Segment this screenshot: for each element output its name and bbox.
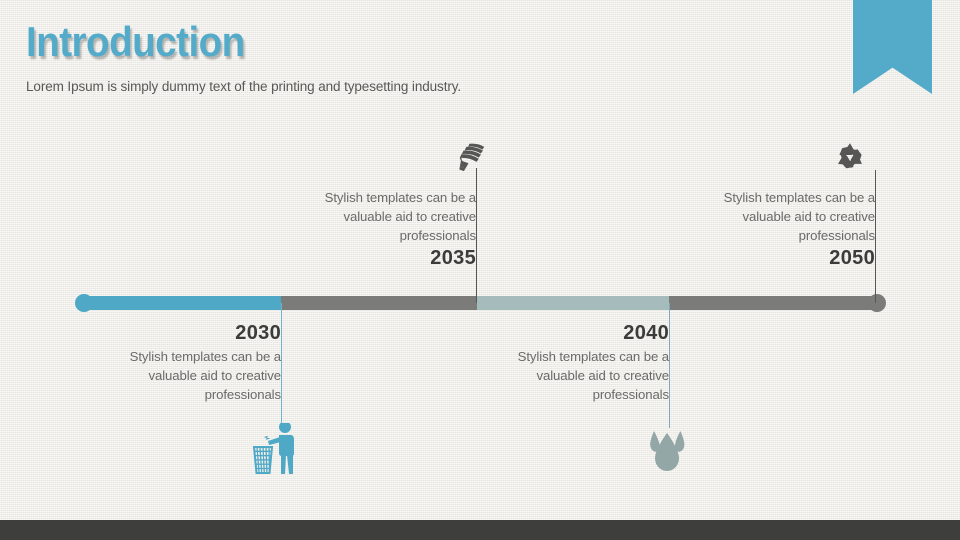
energy-saving-bulb-icon	[452, 138, 486, 174]
milestone-2050: Stylish templates can be a valuable aid …	[675, 188, 887, 272]
milestone-description-2030: Stylish templates can be a valuable aid …	[81, 347, 281, 404]
timeline: 2030Stylish templates can be a valuable …	[0, 0, 960, 540]
milestone-2040: 2040Stylish templates can be a valuable …	[469, 320, 681, 404]
end-cap	[868, 294, 886, 312]
segment-dark-gray	[281, 296, 477, 310]
segment-blue	[79, 296, 281, 310]
icon-container-2035	[452, 138, 486, 179]
milestone-2030: 2030Stylish templates can be a valuable …	[81, 320, 293, 404]
water-drops-icon	[648, 428, 688, 476]
milestone-2035: Stylish templates can be a valuable aid …	[276, 188, 488, 272]
start-cap	[75, 294, 93, 312]
milestone-description-2050: Stylish templates can be a valuable aid …	[675, 188, 875, 245]
slide-canvas: Introduction Lorem Ipsum is simply dummy…	[0, 0, 960, 540]
milestone-year-2050: 2050	[675, 245, 875, 272]
footer-bar	[0, 520, 960, 540]
segment-light-blue	[477, 296, 669, 310]
trash-disposal-icon	[252, 423, 296, 475]
milestone-year-2030: 2030	[81, 320, 281, 347]
icon-container-2040	[648, 428, 688, 481]
icon-container-2030	[252, 423, 296, 480]
segment-gray-end	[669, 296, 877, 310]
milestone-description-2040: Stylish templates can be a valuable aid …	[469, 347, 669, 404]
recycle-icon	[832, 140, 868, 174]
milestone-description-2035: Stylish templates can be a valuable aid …	[276, 188, 476, 245]
milestone-year-2040: 2040	[469, 320, 669, 347]
milestone-year-2035: 2035	[276, 245, 476, 272]
icon-container-2050	[832, 140, 868, 179]
